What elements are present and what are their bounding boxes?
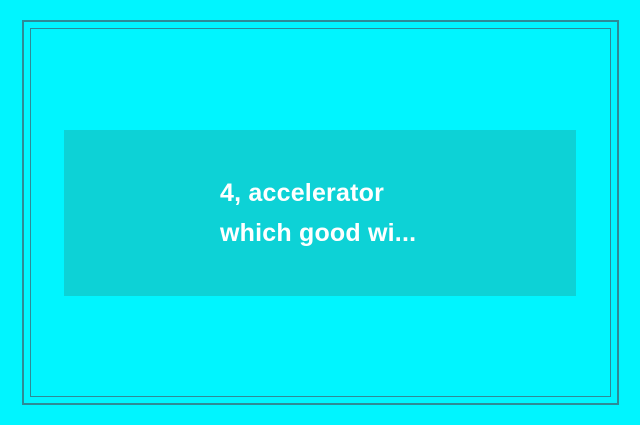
slide-canvas: 4, accelerator which good wi...: [0, 0, 640, 425]
caption-line-2: which good wi...: [220, 213, 416, 253]
caption-line-1: 4, accelerator: [220, 173, 384, 213]
caption-band: 4, accelerator which good wi...: [64, 130, 576, 296]
